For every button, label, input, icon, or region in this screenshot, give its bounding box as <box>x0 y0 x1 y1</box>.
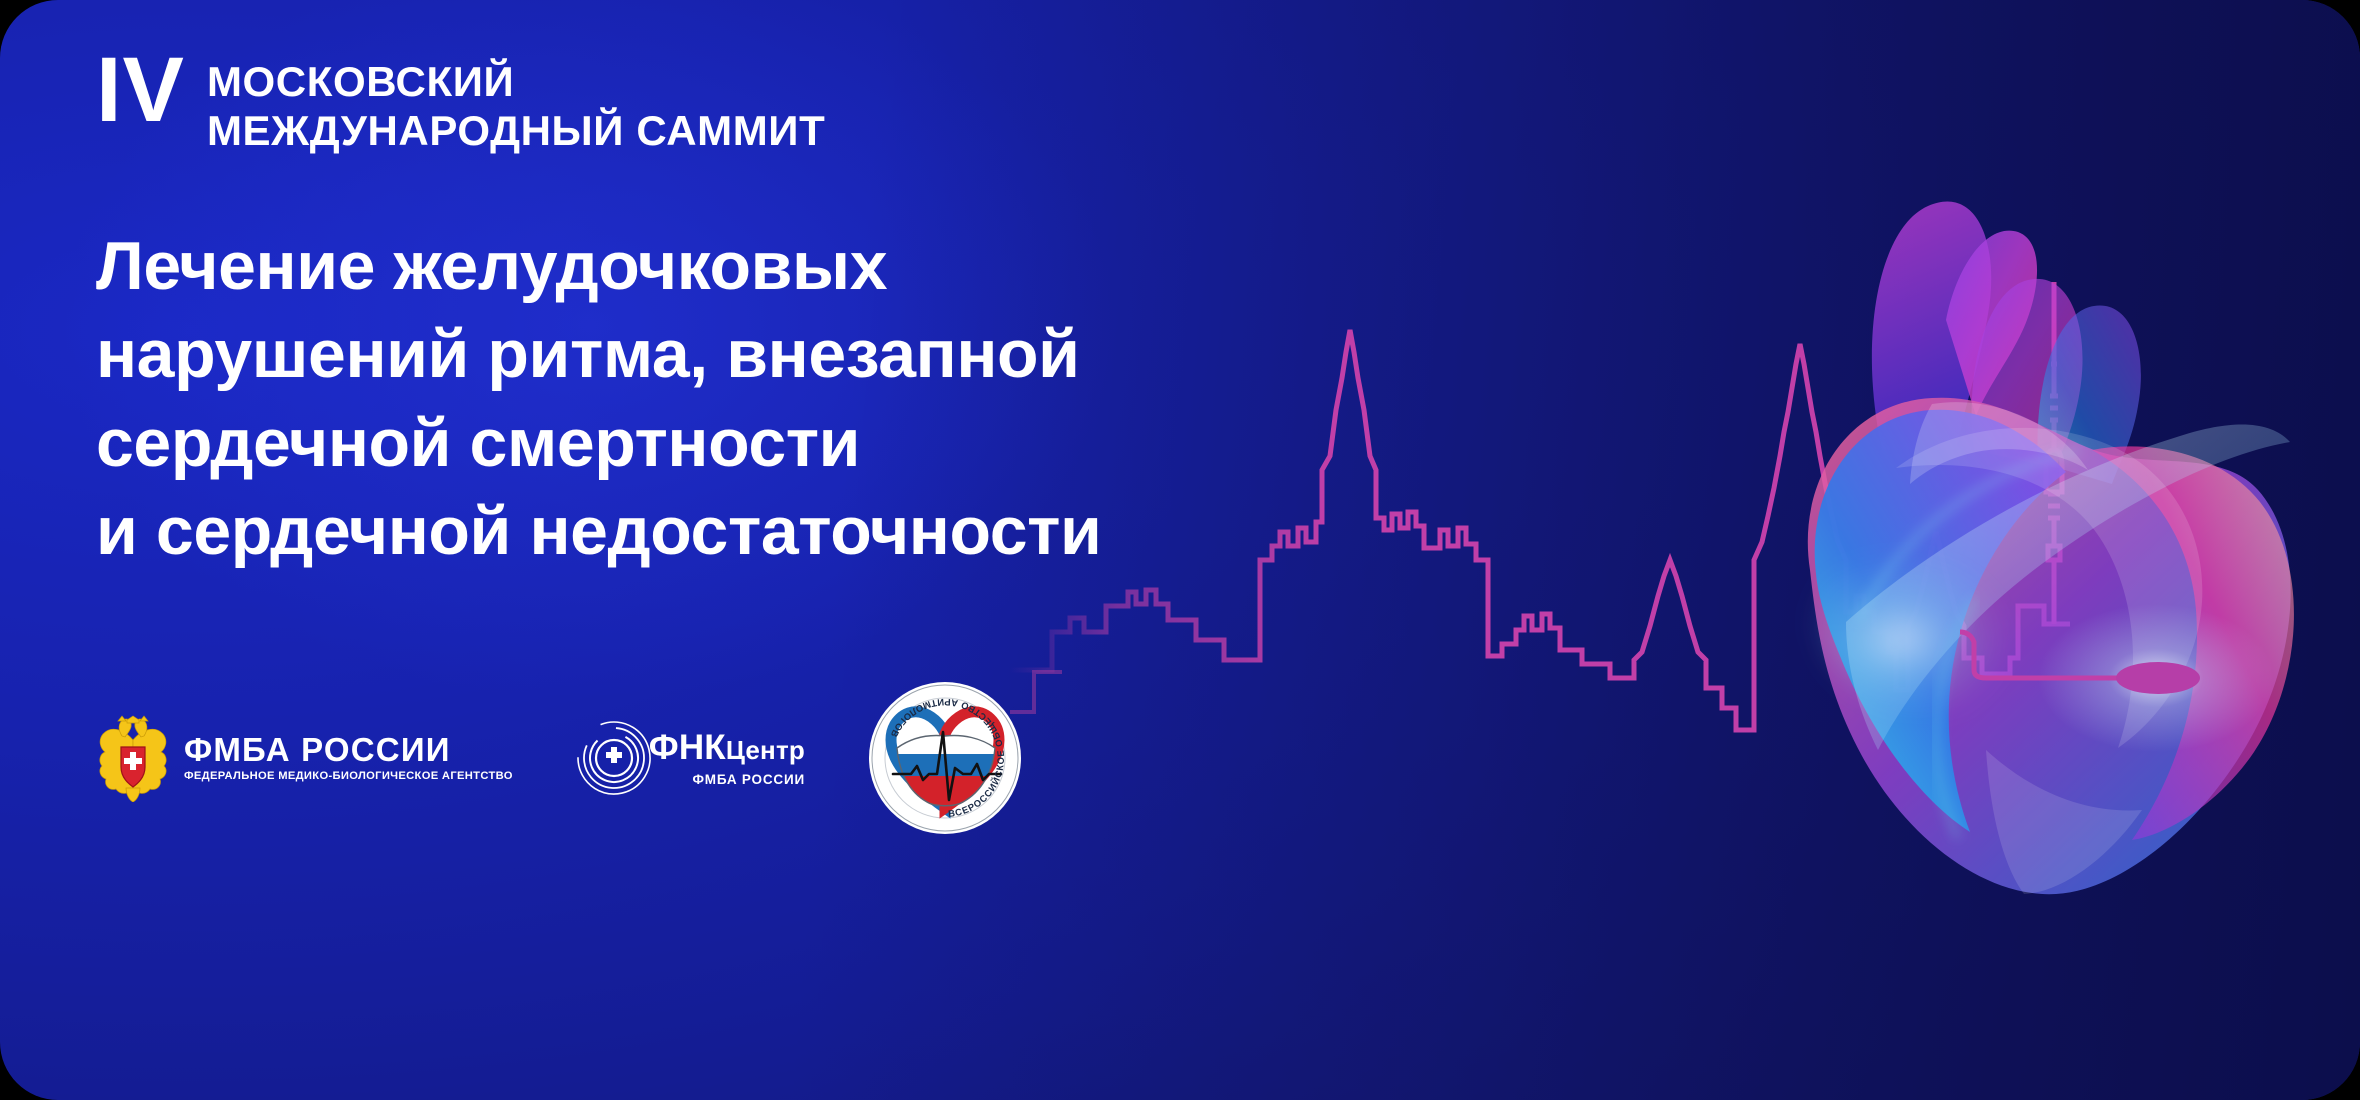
fmba-subtitle: ФЕДЕРАЛЬНОЕ МЕДИКО-БИОЛОГИЧЕСКОЕ АГЕНТСТ… <box>184 771 513 782</box>
logo-all-russian-arrhythmology-society[interactable]: ВСЕРОССИЙСКОЕ ОБЩЕСТВО АРИТМОЛОГОВ <box>867 680 1023 836</box>
page-title: Лечение желудочковых нарушений ритма, вн… <box>96 222 1101 576</box>
summit-header: IV МОСКОВСКИЙ МЕЖДУНАРОДНЫЙ САММИТ <box>96 48 825 155</box>
fmba-text-block: ФМБА РОССИИ ФЕДЕРАЛЬНОЕ МЕДИКО-БИОЛОГИЧЕ… <box>184 733 513 782</box>
double-headed-eagle-icon <box>96 714 170 802</box>
concentric-rings-cross-icon <box>575 719 653 797</box>
summit-banner: IV МОСКОВСКИЙ МЕЖДУНАРОДНЫЙ САММИТ Лечен… <box>0 0 2360 1100</box>
page-title-line-3: сердечной смертности <box>96 399 1101 487</box>
page-title-line-2: нарушений ритма, внезапной <box>96 310 1101 398</box>
page-title-line-1: Лечение желудочковых <box>96 222 1101 310</box>
partner-logos: ФМБА РОССИИ ФЕДЕРАЛЬНОЕ МЕДИКО-БИОЛОГИЧЕ… <box>96 680 1023 836</box>
ecg-pulse-node <box>1960 560 2360 790</box>
summit-name: МОСКОВСКИЙ МЕЖДУНАРОДНЫЙ САММИТ <box>207 48 825 155</box>
summit-name-line-1: МОСКОВСКИЙ <box>207 57 825 106</box>
summit-name-line-2: МЕЖДУНАРОДНЫЙ САММИТ <box>207 106 825 155</box>
fnkc-title: ФНКЦентр <box>649 730 805 765</box>
fmba-title: ФМБА РОССИИ <box>184 733 513 766</box>
moscow-skyline-ecg <box>1010 260 2070 780</box>
fnkc-text-block: ФНКЦентр ФМБА РОССИИ <box>649 730 805 787</box>
fnkc-title-part2: Центр <box>726 735 805 765</box>
logo-fnkc-center[interactable]: ФНКЦентр ФМБА РОССИИ <box>575 719 805 797</box>
summit-edition-numeral: IV <box>96 48 185 133</box>
anatomical-heart-gradient <box>1750 150 2360 940</box>
fnkc-title-part1: ФНК <box>649 728 726 767</box>
logo-fmba-russia[interactable]: ФМБА РОССИИ ФЕДЕРАЛЬНОЕ МЕДИКО-БИОЛОГИЧЕ… <box>96 714 513 802</box>
page-title-line-4: и сердечной недостаточности <box>96 487 1101 575</box>
fnkc-subtitle: ФМБА РОССИИ <box>692 773 805 787</box>
